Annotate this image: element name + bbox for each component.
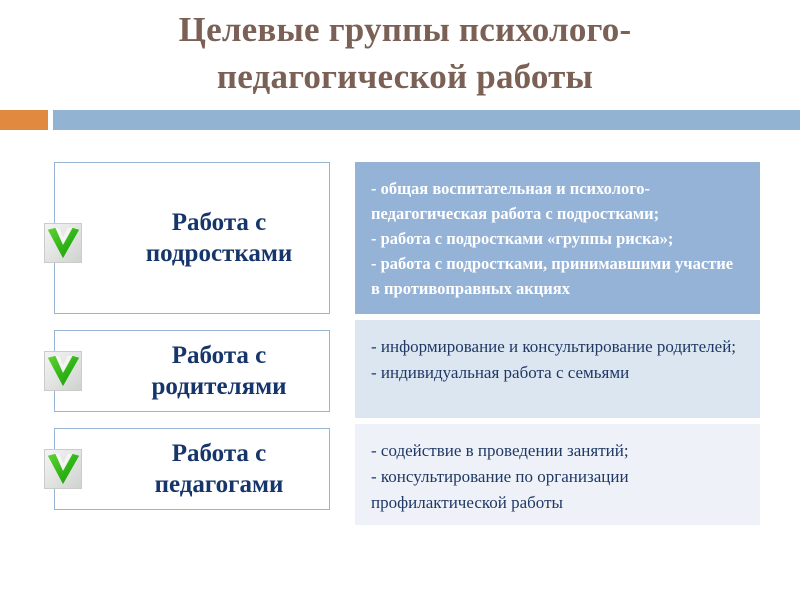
accent-bar-orange (0, 110, 48, 130)
group-label-text: Работа с педагогами (117, 438, 321, 500)
group-label-box-teens[interactable]: Работа с подростками (54, 162, 330, 314)
group-label-text: Работа с подростками (117, 207, 321, 269)
group-details-text: - информирование и консультирование роди… (355, 320, 760, 396)
group-label-text: Работа с родителями (117, 340, 321, 402)
green-check-icon (44, 223, 82, 263)
group-details-text: - содействие в проведении занятий; - кон… (355, 424, 760, 526)
group-details-panel-parents: - информирование и консультирование роди… (355, 320, 760, 418)
group-details-panel-teachers: - содействие в проведении занятий; - кон… (355, 424, 760, 525)
group-details-text: - общая воспитательная и психолого-педаг… (355, 162, 760, 311)
green-check-icon (44, 351, 82, 391)
page-title: Целевые группы психолого-педагогической … (60, 6, 750, 100)
accent-bar-blue (53, 110, 800, 130)
group-details-panel-teens: - общая воспитательная и психолого-педаг… (355, 162, 760, 314)
green-check-icon (44, 449, 82, 489)
group-label-box-teachers[interactable]: Работа с педагогами (54, 428, 330, 510)
group-label-box-parents[interactable]: Работа с родителями (54, 330, 330, 412)
slide-canvas: { "slide": { "title": "Целевые группы пс… (0, 0, 800, 600)
